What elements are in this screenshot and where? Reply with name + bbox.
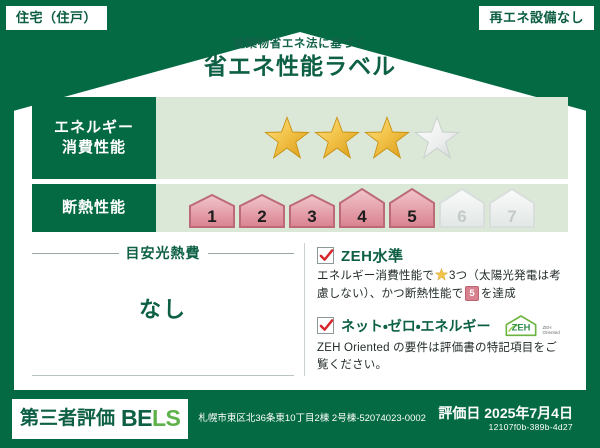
lower-section: 目安光熱費 なし ZEH水準 エネルギー消費性能で3つ（太陽光発電は考慮しない）… [32,243,568,376]
zeh-section: ZEH水準 エネルギー消費性能で3つ（太陽光発電は考慮しない）、かつ断熱性能で5… [304,243,568,376]
energy-label-line2: 消費性能 [62,138,126,158]
bels-logo-en-dark: BE [121,405,152,431]
bels-logo-jp: 第三者評価 [20,409,115,428]
star-icon-filled-2 [314,115,360,161]
heading-rule-right [208,253,295,254]
insulation-level-4-number: 4 [357,208,366,230]
insulation-level-5: 5 [388,186,436,230]
footer-evaluation-info: 評価日 2025年7月4日 12107f0b-389b-4d27 [438,405,577,432]
star-icon-filled-3 [364,115,410,161]
check-icon [319,248,334,263]
evaluation-date: 評価日 2025年7月4日 [438,405,573,421]
insulation-level-1: 1 [188,192,236,230]
zeh-badge-sublabel: ZEH Oriented [543,325,560,337]
star-icon-inline [435,268,448,281]
zeh-standard-checkbox[interactable] [317,247,334,264]
insulation-level-5-number: 5 [407,208,416,230]
row-energy-performance: エネルギー 消費性能 [32,97,568,179]
badge-renewable-equipment: 再エネ設備なし [479,6,594,30]
bels-logo-en: BELS [121,407,180,430]
insulation-scale: 1 2 3 [184,186,540,230]
star-rating [264,115,460,161]
insulation-label-text: 断熱性能 [62,198,126,218]
utility-cost-heading-text: 目安光熱費 [126,243,201,263]
footer: 第三者評価 BELS 札幌市東区北36条東10丁目2棟 2号棟-52074023… [0,390,600,448]
zeh-house-icon: ZEH [501,314,541,338]
row-insulation-performance: 断熱性能 1 [32,184,568,232]
performance-block: エネルギー 消費性能 [32,97,568,237]
zeh-standard-body-part1: エネルギー消費性能で [317,270,434,282]
zeh-netzero-header: ネット・ゼロ・エネルギー ZEH ZEH Oriented [317,314,568,338]
insulation-performance-label: 断熱性能 [32,184,156,232]
insulation-level-chip: 5 [465,286,478,302]
bels-logo: 第三者評価 BELS [12,399,188,439]
document-id: 12107f0b-389b-4d27 [438,422,573,433]
insulation-level-2: 2 [238,192,286,230]
energy-performance-label: エネルギー 消費性能 [32,97,156,179]
zeh-badge-sub-line2: Oriented [543,330,560,335]
svg-text:ZEH: ZEH [511,322,530,332]
utility-cost-section: 目安光熱費 なし [32,243,304,376]
energy-label-line1: エネルギー [54,118,134,138]
insulation-level-7: 7 [488,186,536,230]
insulation-level-6-number: 6 [457,208,466,230]
zeh-logo-badge: ZEH ZEH Oriented [501,314,560,338]
energy-performance-label: 住宅（住戸） 再エネ設備なし 建築物省エネ法に基づく 省エネ性能ラベル エネルギ… [0,0,600,448]
energy-performance-value [156,97,568,179]
badge-building-type: 住宅（住戸） [6,6,107,30]
zeh-netzero-title: ネット・ゼロ・エネルギー [341,316,491,336]
star-icon-filled-1 [264,115,310,161]
zeh-netzero-body: ZEH Oriented の要件は評価書の特記項目をご覧ください。 [317,340,568,376]
star-icon-empty-4 [414,115,460,161]
zeh-standard-header: ZEH水準 [317,245,568,266]
insulation-level-1-number: 1 [207,208,216,230]
zeh-standard-body: エネルギー消費性能で3つ（太陽光発電は考慮しない）、かつ断熱性能で5を達成 [317,268,568,304]
insulation-performance-value: 1 2 3 [156,184,568,232]
insulation-level-2-number: 2 [257,208,266,230]
zeh-standard-body-part3: を達成 [481,288,516,300]
insulation-level-4: 4 [338,186,386,230]
zeh-standard-title: ZEH水準 [341,245,404,266]
insulation-level-7-number: 7 [507,208,516,230]
utility-cost-value: なし [32,263,294,375]
footer-address: 札幌市東区北36条東10丁目2棟 2号棟-52074023-0002 [188,412,438,426]
bels-logo-en-light: LS [152,405,180,431]
insulation-level-6: 6 [438,186,486,230]
insulation-level-3-number: 3 [307,208,316,230]
check-icon [319,318,334,333]
utility-cost-bottom-rule [32,375,294,376]
heading-rule-left [32,253,119,254]
utility-cost-heading: 目安光熱費 [32,243,294,263]
zeh-netzero-checkbox[interactable] [317,317,334,334]
insulation-level-3: 3 [288,192,336,230]
